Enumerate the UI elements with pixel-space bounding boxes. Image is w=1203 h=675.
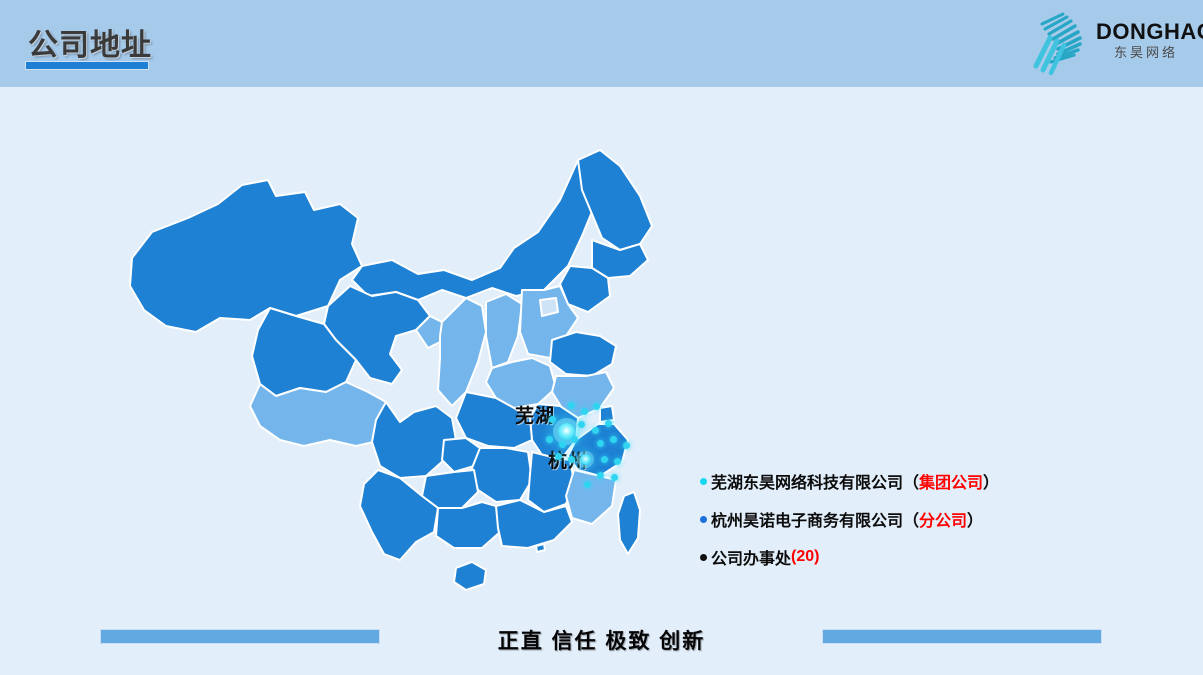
legend: 芜湖东昊网络科技有限公司 （ 集团公司 ） 杭州昊诺电子商务有限公司 （ 分公司… — [700, 462, 1120, 576]
legend-tag: 集团公司 — [919, 469, 983, 493]
province-heilongjiang — [578, 150, 652, 250]
legend-label: 公司办事处 — [711, 545, 791, 569]
legend-paren-open: （ — [903, 469, 919, 493]
page-title: 公司地址 — [28, 20, 152, 64]
legend-bullet-icon — [700, 516, 707, 523]
province-shandong — [550, 332, 616, 376]
office-dot[interactable] — [578, 421, 585, 428]
province-taiwan — [618, 492, 640, 554]
legend-item-branch-company: 杭州昊诺电子商务有限公司 （ 分公司 ） — [700, 500, 1120, 538]
office-dot[interactable] — [605, 420, 612, 427]
page-header: 公司地址 — [0, 0, 1203, 87]
legend-bullet-icon — [700, 478, 707, 485]
legend-item-offices: 公司办事处 (20) — [700, 538, 1120, 576]
office-dot[interactable] — [623, 442, 630, 449]
province-fujian — [566, 470, 616, 524]
footer-slogan: 正直 信任 极致 创新 — [0, 625, 1203, 655]
province-guangdong — [496, 500, 572, 548]
office-dot[interactable] — [568, 456, 575, 463]
wing-feather-logo-icon — [1030, 8, 1098, 78]
province-hunan — [472, 448, 532, 502]
legend-bullet-icon — [700, 554, 707, 561]
province-hainan — [454, 562, 486, 590]
title-underline — [25, 61, 149, 70]
office-dot[interactable] — [568, 402, 575, 409]
office-dot[interactable] — [571, 436, 578, 443]
office-dot[interactable] — [592, 427, 599, 434]
legend-paren-close: ） — [967, 507, 983, 531]
office-dot[interactable] — [581, 408, 588, 415]
office-dot[interactable] — [611, 474, 618, 481]
marker-hangzhou-branch[interactable] — [580, 454, 591, 465]
office-dot[interactable] — [584, 481, 591, 488]
province-guangxi — [436, 502, 500, 548]
legend-label: 芜湖东昊网络科技有限公司 — [711, 469, 903, 493]
legend-paren-open: （ — [903, 507, 919, 531]
legend-item-group-company: 芜湖东昊网络科技有限公司 （ 集团公司 ） — [700, 462, 1120, 500]
legend-label: 杭州昊诺电子商务有限公司 — [711, 507, 903, 531]
province-shanxi — [486, 294, 522, 368]
office-dot[interactable] — [559, 441, 566, 448]
office-dot[interactable] — [597, 472, 604, 479]
office-dot[interactable] — [601, 456, 608, 463]
office-dot[interactable] — [610, 436, 617, 443]
office-dot[interactable] — [614, 458, 621, 465]
logo-text: DONGHAO 东昊网络 — [1096, 20, 1196, 62]
legend-tag: 分公司 — [919, 507, 967, 531]
office-dot[interactable] — [546, 436, 553, 443]
province-beijing — [540, 298, 558, 316]
legend-paren-close: ） — [983, 469, 999, 493]
office-dot[interactable] — [597, 440, 604, 447]
legend-tag: (20) — [791, 548, 819, 566]
office-dot[interactable] — [555, 453, 562, 460]
company-logo: DONGHAO 东昊网络 — [1030, 6, 1195, 80]
logo-name-cn: 东昊网络 — [1096, 44, 1196, 62]
office-dot[interactable] — [593, 403, 600, 410]
china-map: 芜湖 杭州 — [100, 140, 660, 602]
city-label-wuhu: 芜湖 — [515, 401, 555, 428]
province-hongkong — [536, 544, 545, 552]
province-shaanxi — [438, 298, 486, 406]
office-dot[interactable] — [549, 416, 556, 423]
logo-name-en: DONGHAO — [1096, 20, 1196, 44]
